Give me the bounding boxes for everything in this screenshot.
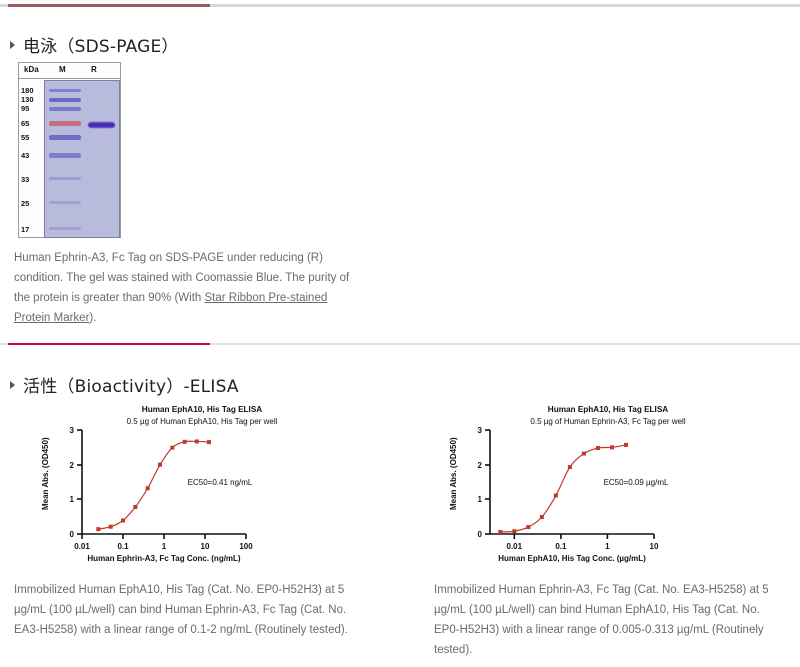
chart-subtitle-right: 0.5 µg of Human Ephrin-A3, Fc Tag per we… xyxy=(530,417,685,426)
gel-lane-header: kDa M R xyxy=(19,63,120,79)
elisa-points-right xyxy=(498,443,628,534)
x-tick-left-1: 0.1 xyxy=(117,542,129,551)
gel-header-lane-r: R xyxy=(91,65,97,74)
data-point xyxy=(183,440,187,444)
chart-title-left: Human EphA10, His Tag ELISA xyxy=(142,405,262,414)
ladder-label-25: 25 xyxy=(21,199,29,208)
gel-band-17 xyxy=(49,227,81,230)
x-tick-right-3: 10 xyxy=(650,542,659,551)
gel-band-43 xyxy=(49,153,81,158)
x-tick-left-2: 1 xyxy=(162,542,167,551)
y-tick-left-3: 3 xyxy=(70,426,75,435)
x-tick-left-3: 10 xyxy=(201,542,210,551)
data-point xyxy=(195,439,199,443)
gel-header-kda: kDa xyxy=(24,65,39,74)
x-tick-right-1: 0.1 xyxy=(555,542,567,551)
y-tick-left-1: 1 xyxy=(70,495,75,504)
sds-page-gel-image: kDa M R 180 130 95 65 55 43 33 25 17 xyxy=(18,62,121,238)
section-divider-fill xyxy=(8,343,210,345)
elisa-chart-right: Human EphA10, His Tag ELISA 0.5 µg of Hu… xyxy=(424,400,784,565)
ladder-label-180: 180 xyxy=(21,86,34,95)
data-point xyxy=(526,525,530,529)
gel-band-33 xyxy=(49,177,81,180)
section-heading-bioactivity-label: 活性（Bioactivity）-ELISA xyxy=(23,372,239,397)
data-point xyxy=(158,463,162,467)
data-point xyxy=(133,505,137,509)
gel-band-130 xyxy=(49,98,81,102)
x-axis-label-right: Human EphA10, His Tag Conc. (µg/mL) xyxy=(498,554,646,563)
gel-band-180 xyxy=(49,89,81,92)
gel-sample-band-r xyxy=(88,122,115,128)
data-point xyxy=(109,525,113,529)
data-point xyxy=(121,518,125,522)
y-tick-right-2: 2 xyxy=(478,461,483,470)
data-point xyxy=(582,452,586,456)
triangle-right-icon xyxy=(10,41,15,49)
gel-ladder-lane xyxy=(49,81,81,237)
section-heading-bioactivity[interactable]: 活性（Bioactivity）-ELISA xyxy=(10,372,239,397)
data-point xyxy=(146,486,150,490)
y-axis-label-left: Mean Abs. (OD450) xyxy=(41,437,50,510)
ec50-annotation-right: EC50=0.09 µg/mL xyxy=(604,478,669,487)
gel-band-55 xyxy=(49,135,81,140)
gel-band-25 xyxy=(49,201,81,204)
elisa-chart-left: Human EphA10, His Tag ELISA 0.5 µg of Hu… xyxy=(24,400,374,565)
triangle-right-icon xyxy=(10,381,15,389)
data-point xyxy=(610,445,614,449)
section-heading-sds-page-label: 电泳（SDS-PAGE） xyxy=(23,32,179,57)
data-point xyxy=(624,443,628,447)
x-tick-left-0: 0.01 xyxy=(74,542,90,551)
gel-header-lane-m: M xyxy=(59,65,66,74)
data-point xyxy=(512,529,516,533)
elisa-curve-right xyxy=(500,445,626,532)
y-tick-left-2: 2 xyxy=(70,461,75,470)
ladder-label-17: 17 xyxy=(21,225,29,234)
ladder-label-33: 33 xyxy=(21,175,29,184)
data-point xyxy=(170,446,174,450)
ladder-label-65: 65 xyxy=(21,119,29,128)
y-tick-left-0: 0 xyxy=(70,530,75,539)
sds-page-caption-text-end: ). xyxy=(89,312,96,324)
x-tick-right-2: 1 xyxy=(605,542,610,551)
section-heading-sds-page[interactable]: 电泳（SDS-PAGE） xyxy=(10,32,179,57)
section-divider xyxy=(0,343,800,345)
ladder-label-55: 55 xyxy=(21,133,29,142)
data-point xyxy=(207,440,211,444)
x-tick-left-4: 100 xyxy=(239,542,253,551)
x-axis-label-left: Human Ephrin-A3, Fc Tag Conc. (ng/mL) xyxy=(87,554,241,563)
data-point xyxy=(596,446,600,450)
elisa-caption-right: Immobilized Human Ephrin-A3, Fc Tag (Cat… xyxy=(434,580,786,660)
y-axis-label-right: Mean Abs. (OD450) xyxy=(449,437,458,510)
page-loading-bar xyxy=(0,4,800,7)
ladder-label-130: 130 xyxy=(21,95,34,104)
data-point xyxy=(498,530,502,534)
y-tick-right-1: 1 xyxy=(478,495,483,504)
ladder-label-43: 43 xyxy=(21,151,29,160)
ec50-annotation-left: EC50=0.41 ng/mL xyxy=(188,478,253,487)
ladder-label-95: 95 xyxy=(21,104,29,113)
gel-ladder-labels: 180 130 95 65 55 43 33 25 17 xyxy=(21,80,45,238)
elisa-caption-left: Immobilized Human EphA10, His Tag (Cat. … xyxy=(14,580,364,640)
elisa-chart-right-svg: Human EphA10, His Tag ELISA 0.5 µg of Hu… xyxy=(424,400,784,565)
data-point xyxy=(554,494,558,498)
x-tick-right-0: 0.01 xyxy=(507,542,523,551)
page-loading-bar-fill xyxy=(8,4,210,7)
data-point xyxy=(540,515,544,519)
data-point xyxy=(568,465,572,469)
chart-title-right: Human EphA10, His Tag ELISA xyxy=(548,405,668,414)
gel-band-95 xyxy=(49,107,81,111)
gel-lanes xyxy=(44,80,120,238)
y-tick-right-3: 3 xyxy=(478,426,483,435)
elisa-chart-left-svg: Human EphA10, His Tag ELISA 0.5 µg of Hu… xyxy=(24,400,374,565)
gel-band-65 xyxy=(49,121,81,126)
data-point xyxy=(96,527,100,531)
chart-subtitle-left: 0.5 µg of Human EphA10, His Tag per well xyxy=(127,417,278,426)
y-tick-right-0: 0 xyxy=(478,530,483,539)
sds-page-caption: Human Ephrin-A3, Fc Tag on SDS-PAGE unde… xyxy=(14,248,354,328)
